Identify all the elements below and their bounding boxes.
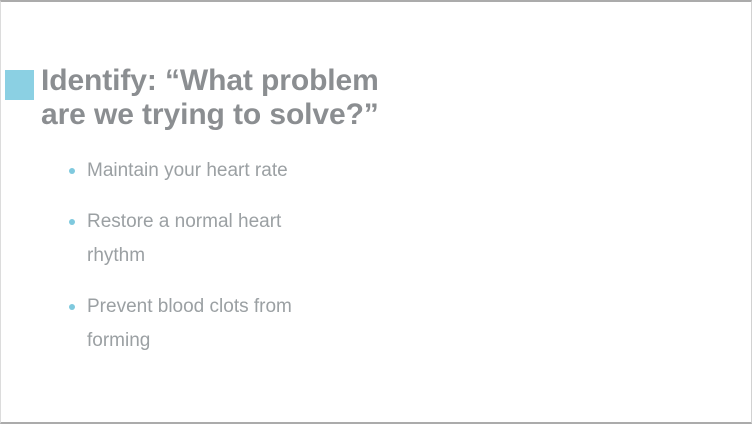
list-item-label: Prevent blood clots from forming	[87, 290, 302, 358]
list-item: Prevent blood clots from forming	[63, 290, 483, 358]
bullet-dot-icon	[69, 219, 75, 225]
list-item: Maintain your heart rate	[63, 154, 483, 188]
bullet-dot-icon	[69, 168, 75, 174]
list-item: Restore a normal heart rhythm	[63, 205, 483, 273]
page-title: Identify: “What problem are we trying to…	[41, 64, 471, 132]
accent-square-decoration	[5, 70, 34, 100]
bullet-dot-icon	[69, 304, 75, 310]
list-item-label: Maintain your heart rate	[87, 154, 302, 188]
slide-canvas: Identify: “What problem are we trying to…	[0, 0, 752, 424]
bullet-list: Maintain your heart rate Restore a norma…	[63, 154, 483, 358]
list-item-label: Restore a normal heart rhythm	[87, 205, 302, 273]
